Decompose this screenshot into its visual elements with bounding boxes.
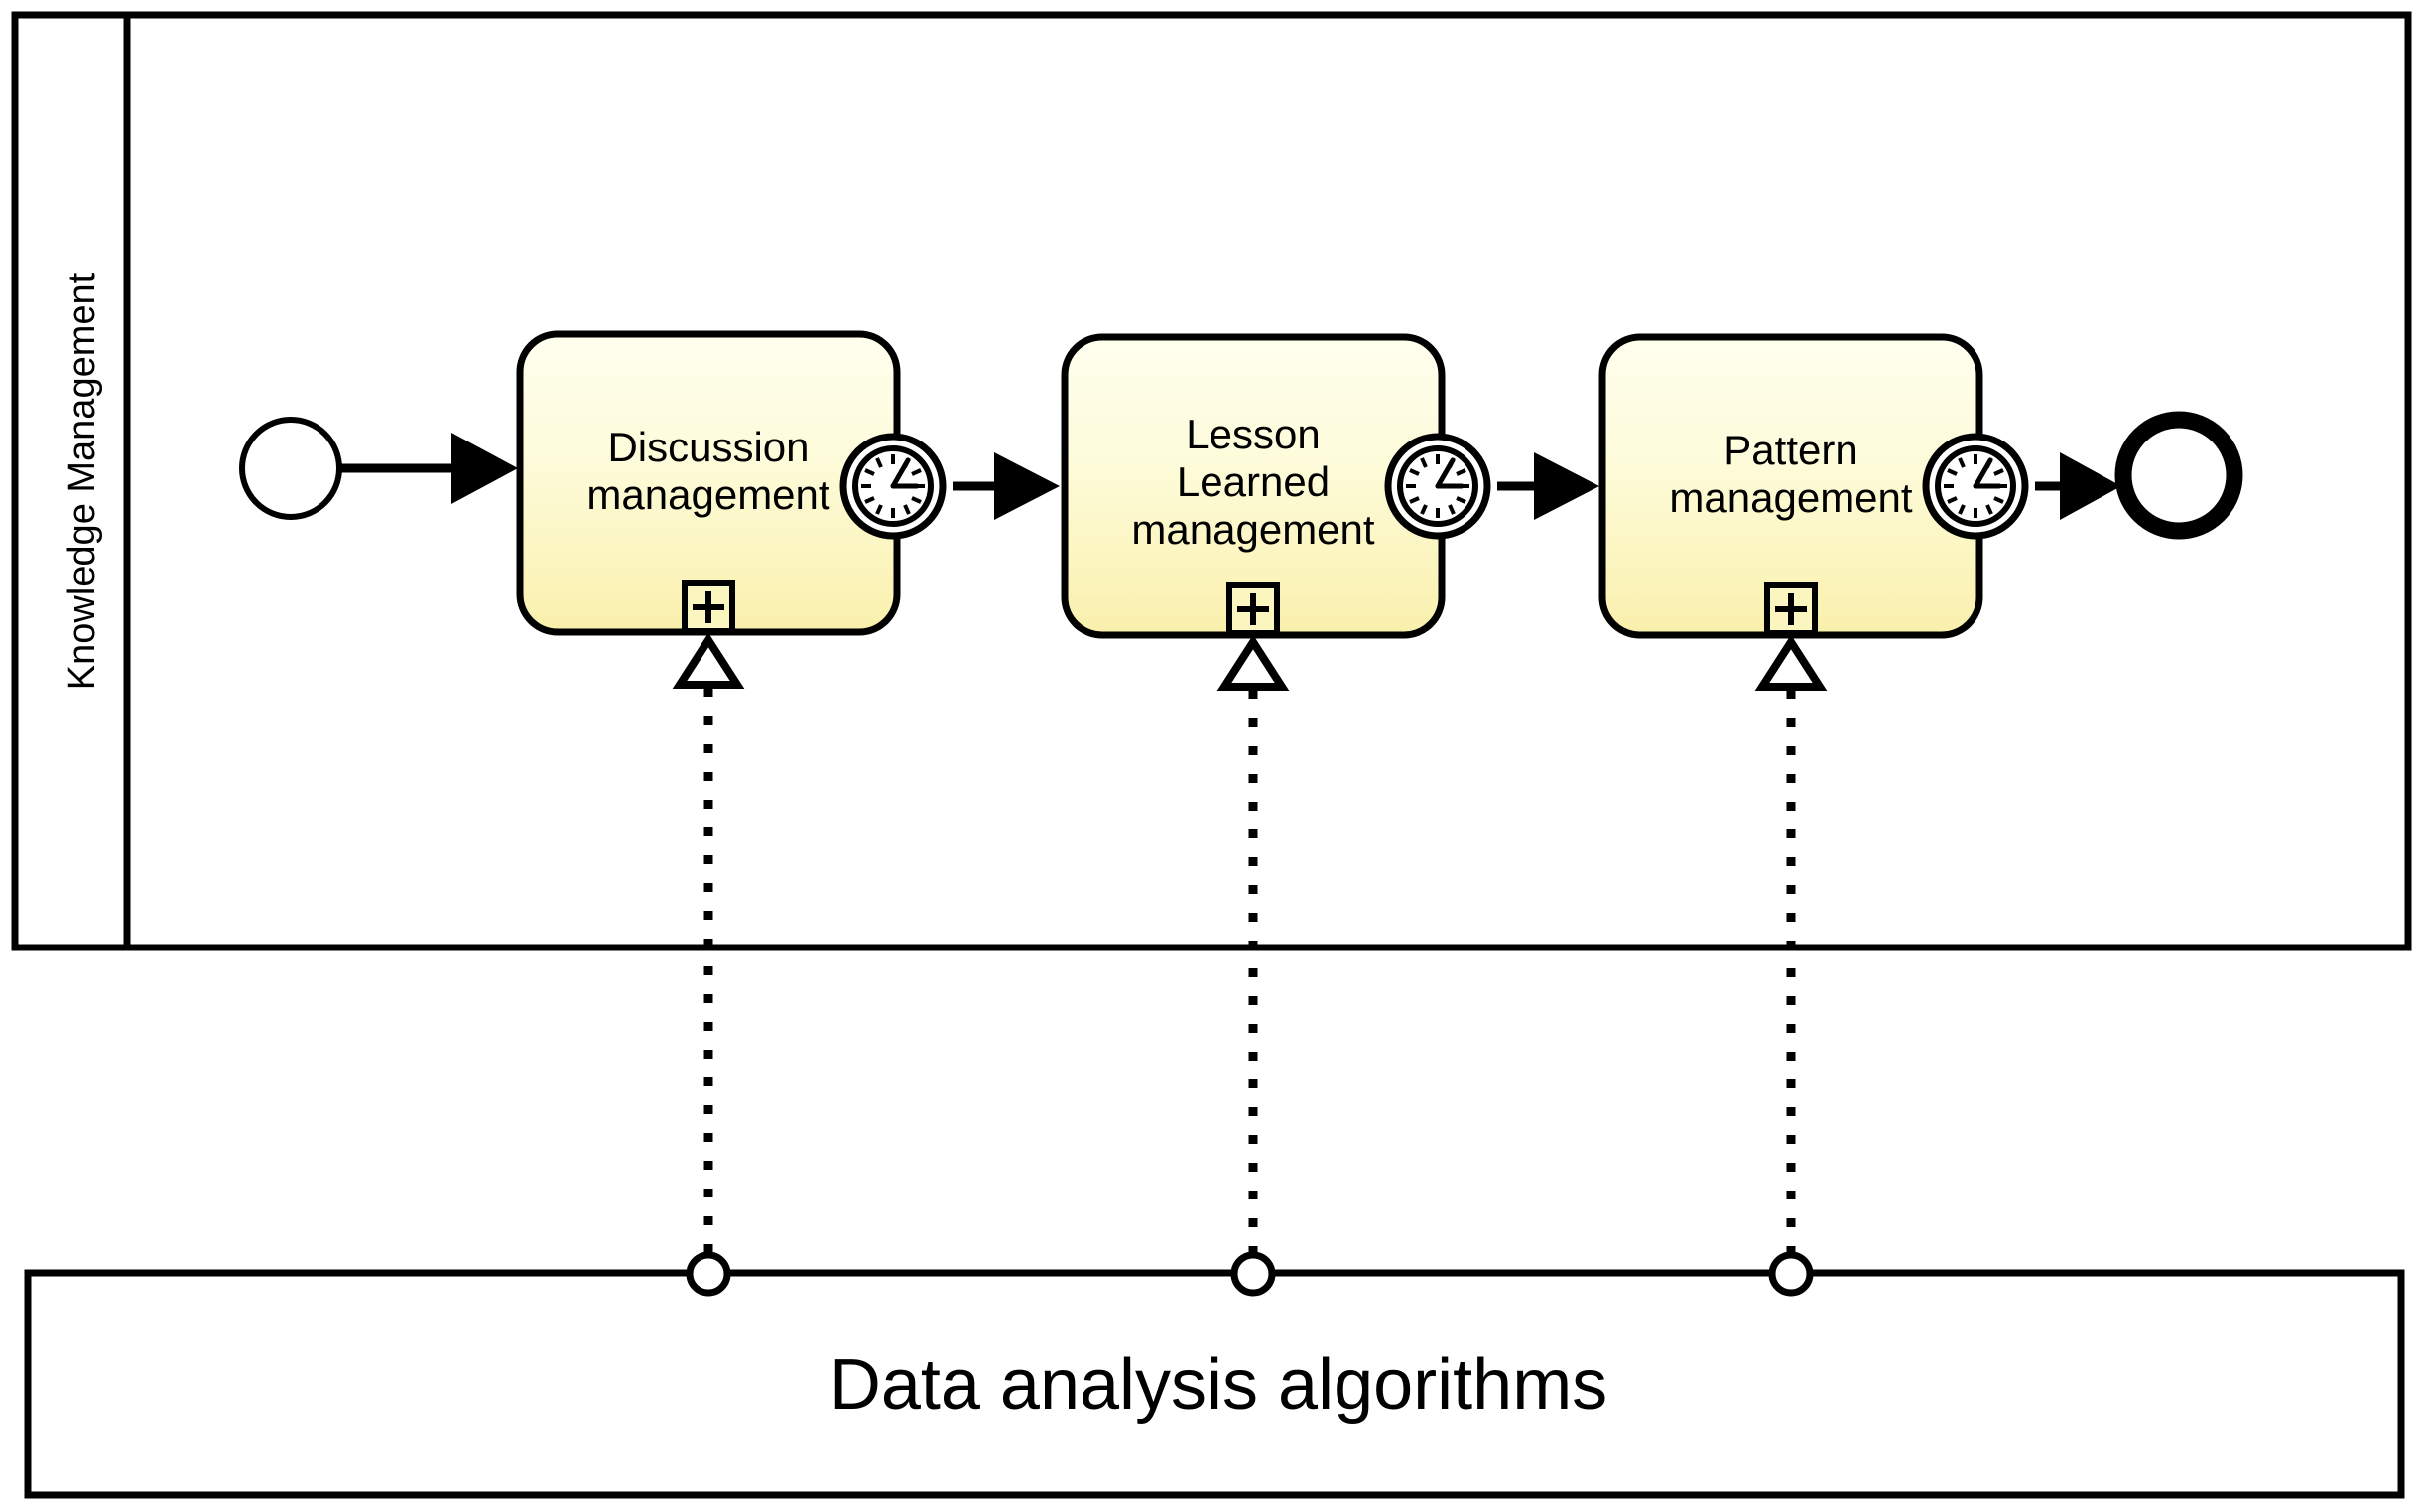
subprocess-plus-marker — [1229, 585, 1277, 633]
timer-clock-icon[interactable] — [1926, 437, 2025, 536]
end-event[interactable] — [2123, 420, 2234, 531]
task-label-line: Lesson — [1186, 411, 1320, 457]
task-label-line: Pattern — [1723, 427, 1857, 473]
interface-socket-icon[interactable] — [690, 1255, 727, 1293]
lane-label-text: Knowledge Management — [62, 272, 103, 690]
task-label-line: Discussion — [607, 424, 809, 470]
subprocess-plus-marker — [685, 583, 732, 631]
task-label-line: management — [1669, 474, 1912, 521]
task-label-line: management — [586, 471, 829, 518]
subprocess-plus-marker — [1767, 585, 1815, 633]
interface-socket-icon[interactable] — [1234, 1255, 1272, 1293]
component-data-analysis-algorithms[interactable]: Data analysis algorithms — [28, 1273, 2401, 1495]
start-event[interactable] — [242, 420, 339, 517]
lane-label: Knowledge Management — [62, 272, 103, 690]
task-label-line: management — [1131, 506, 1374, 553]
interface-socket-icon[interactable] — [1772, 1255, 1810, 1293]
timer-clock-icon[interactable] — [1388, 437, 1487, 536]
task-label-line: Learned — [1177, 458, 1330, 505]
timer-clock-icon[interactable] — [843, 437, 943, 536]
component-label-text: Data analysis algorithms — [829, 1345, 1607, 1425]
bpmn-diagram-canvas: Knowledge Management Discussion manageme… — [0, 0, 2421, 1512]
